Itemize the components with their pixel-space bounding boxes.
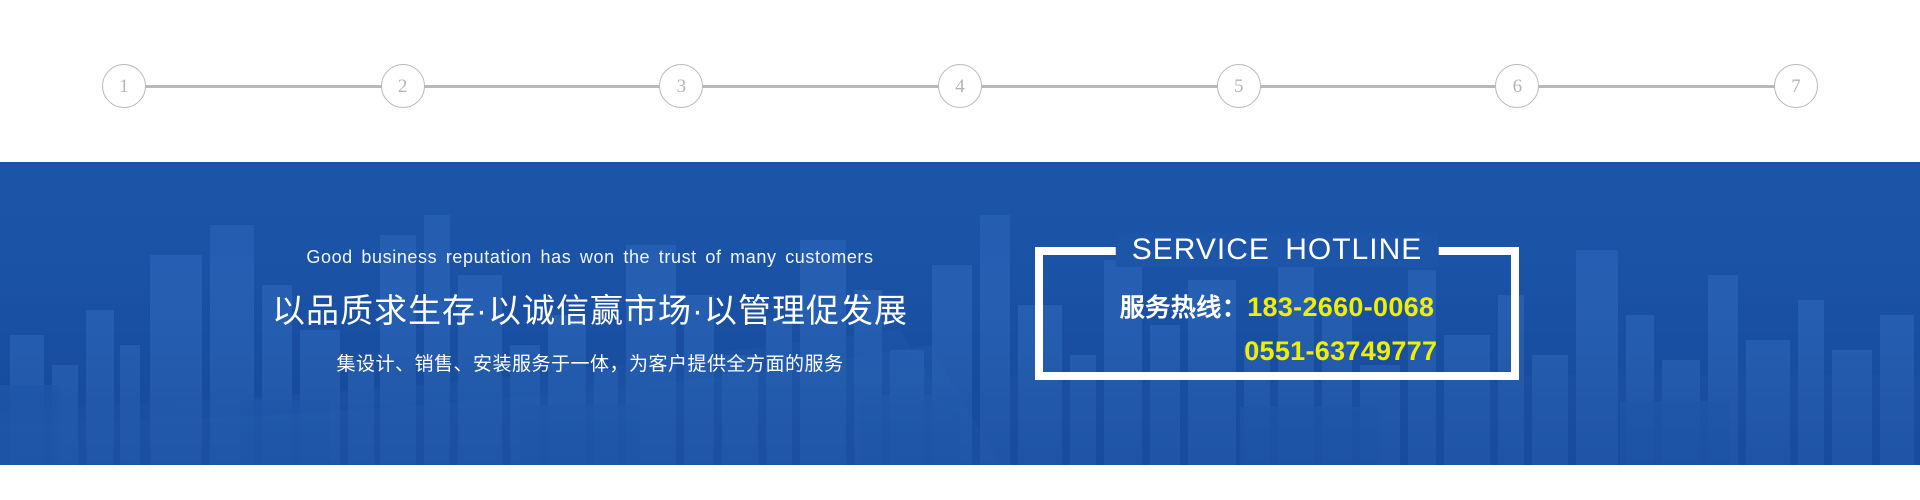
step-node-6-label: 6 bbox=[1513, 77, 1523, 96]
step-connector-4-5 bbox=[981, 85, 1218, 88]
hotline-label: 服务热线： bbox=[1120, 288, 1248, 324]
slogan-chinese-headline: 以品质求生存·以诚信赢市场·以管理促发展 bbox=[240, 284, 940, 332]
step-node-2-label: 2 bbox=[398, 77, 408, 96]
promo-banner: Good business reputation has won the tru… bbox=[0, 162, 1920, 465]
step-progress-bar: 1 2 3 4 5 6 7 bbox=[0, 0, 1920, 162]
slogan-block: Good business reputation has won the tru… bbox=[240, 247, 940, 376]
step-connector-5-6 bbox=[1260, 85, 1497, 88]
hotline-row-secondary: 服务热线： 0551-63749777 bbox=[1043, 332, 1511, 368]
hotline-number-landline[interactable]: 0551-63749777 bbox=[1244, 336, 1437, 367]
slogan-english-line: Good business reputation has won the tru… bbox=[240, 247, 940, 268]
step-node-1[interactable]: 1 bbox=[102, 64, 146, 108]
step-node-5-label: 5 bbox=[1234, 77, 1244, 96]
step-node-7[interactable]: 7 bbox=[1774, 64, 1818, 108]
step-connector-2-3 bbox=[424, 85, 661, 88]
step-node-4[interactable]: 4 bbox=[938, 64, 982, 108]
step-node-1-label: 1 bbox=[119, 77, 129, 96]
step-node-5[interactable]: 5 bbox=[1217, 64, 1261, 108]
step-node-7-label: 7 bbox=[1791, 77, 1801, 96]
step-node-3-label: 3 bbox=[677, 77, 687, 96]
hotline-row-primary: 服务热线： 183-2660-0068 bbox=[1043, 288, 1511, 324]
page-root: 1 2 3 4 5 6 7 bbox=[0, 0, 1920, 500]
step-connector-3-4 bbox=[702, 85, 939, 88]
slogan-chinese-subline: 集设计、销售、安装服务于一体，为客户提供全方面的服务 bbox=[240, 349, 940, 376]
step-node-2[interactable]: 2 bbox=[381, 64, 425, 108]
service-hotline-numbers: 服务热线： 183-2660-0068 服务热线： 0551-63749777 bbox=[1043, 288, 1511, 368]
service-hotline-box: SERVICE HOTLINE 服务热线： 183-2660-0068 服务热线… bbox=[1035, 247, 1519, 380]
service-hotline-title: SERVICE HOTLINE bbox=[1116, 233, 1439, 267]
step-connector-6-7 bbox=[1538, 85, 1775, 88]
hotline-number-mobile[interactable]: 183-2660-0068 bbox=[1247, 292, 1434, 323]
step-connector-1-2 bbox=[145, 85, 382, 88]
step-node-6[interactable]: 6 bbox=[1495, 64, 1539, 108]
step-node-3[interactable]: 3 bbox=[659, 64, 703, 108]
step-progress-track: 1 2 3 4 5 6 7 bbox=[102, 48, 1818, 124]
step-node-4-label: 4 bbox=[955, 77, 965, 96]
